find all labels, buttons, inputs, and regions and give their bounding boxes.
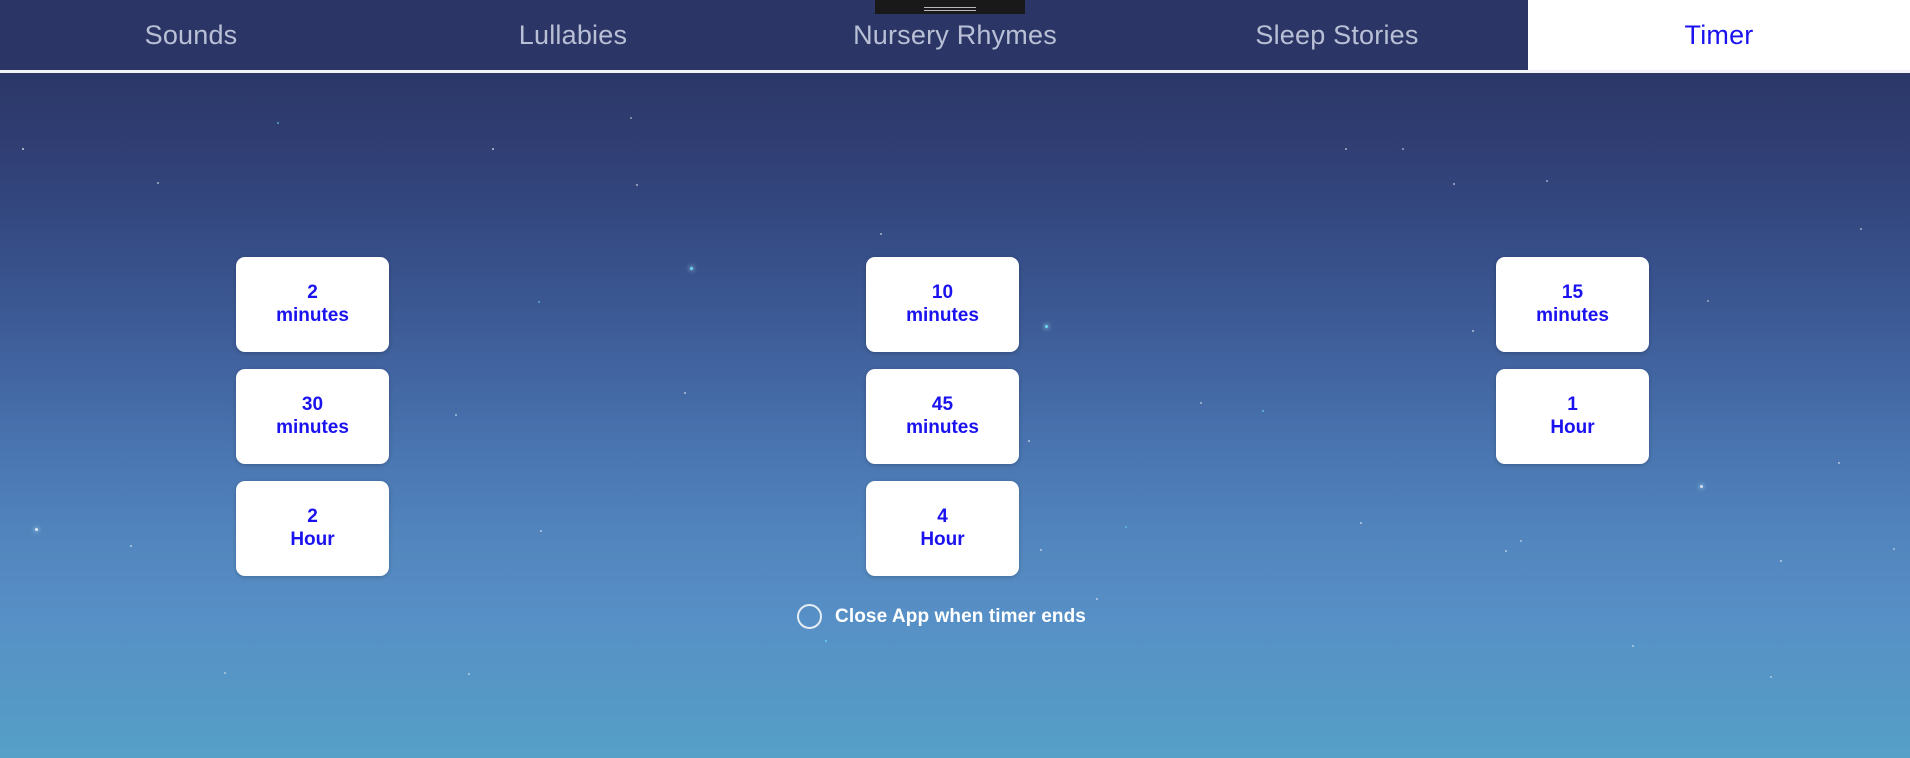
timer-option-unit: minutes — [276, 417, 349, 439]
close-app-checkbox[interactable] — [797, 604, 822, 629]
timer-option-unit: minutes — [276, 305, 349, 327]
timer-option-2-minutes[interactable]: 2minutes — [236, 257, 389, 352]
timer-option-2-hour[interactable]: 2Hour — [236, 481, 389, 576]
timer-option-value: 30 — [302, 394, 323, 416]
close-app-label: Close App when timer ends — [835, 606, 1086, 628]
timer-option-value: 2 — [307, 506, 318, 528]
timer-option-value: 2 — [307, 282, 318, 304]
timer-option-45-minutes[interactable]: 45minutes — [866, 369, 1019, 464]
timer-option-30-minutes[interactable]: 30minutes — [236, 369, 389, 464]
timer-option-15-minutes[interactable]: 15minutes — [1496, 257, 1649, 352]
tab-sounds[interactable]: Sounds — [0, 0, 382, 70]
close-app-option[interactable]: Close App when timer ends — [797, 604, 1086, 629]
timer-options-grid: 2minutes30minutes2Hour10minutes45minutes… — [0, 70, 1910, 758]
timer-option-unit: Hour — [920, 529, 964, 551]
timer-option-10-minutes[interactable]: 10minutes — [866, 257, 1019, 352]
timer-option-value: 1 — [1567, 394, 1578, 416]
timer-option-unit: minutes — [906, 417, 979, 439]
timer-option-value: 15 — [1562, 282, 1583, 304]
timer-option-value: 45 — [932, 394, 953, 416]
overlay-drag-handle[interactable] — [875, 0, 1025, 14]
timer-option-unit: minutes — [1536, 305, 1609, 327]
timer-option-1-hour[interactable]: 1Hour — [1496, 369, 1649, 464]
timer-option-value: 10 — [932, 282, 953, 304]
drag-grip-icon — [924, 7, 976, 8]
timer-option-unit: Hour — [1550, 417, 1594, 439]
tab-lullabies[interactable]: Lullabies — [382, 0, 764, 70]
timer-option-unit: minutes — [906, 305, 979, 327]
tab-sleep-stories[interactable]: Sleep Stories — [1146, 0, 1528, 70]
app-root: SoundsLullabiesNursery RhymesSleep Stori… — [0, 0, 1910, 758]
tab-timer[interactable]: Timer — [1528, 0, 1910, 70]
timer-option-4-hour[interactable]: 4Hour — [866, 481, 1019, 576]
timer-option-unit: Hour — [290, 529, 334, 551]
timer-option-value: 4 — [937, 506, 948, 528]
